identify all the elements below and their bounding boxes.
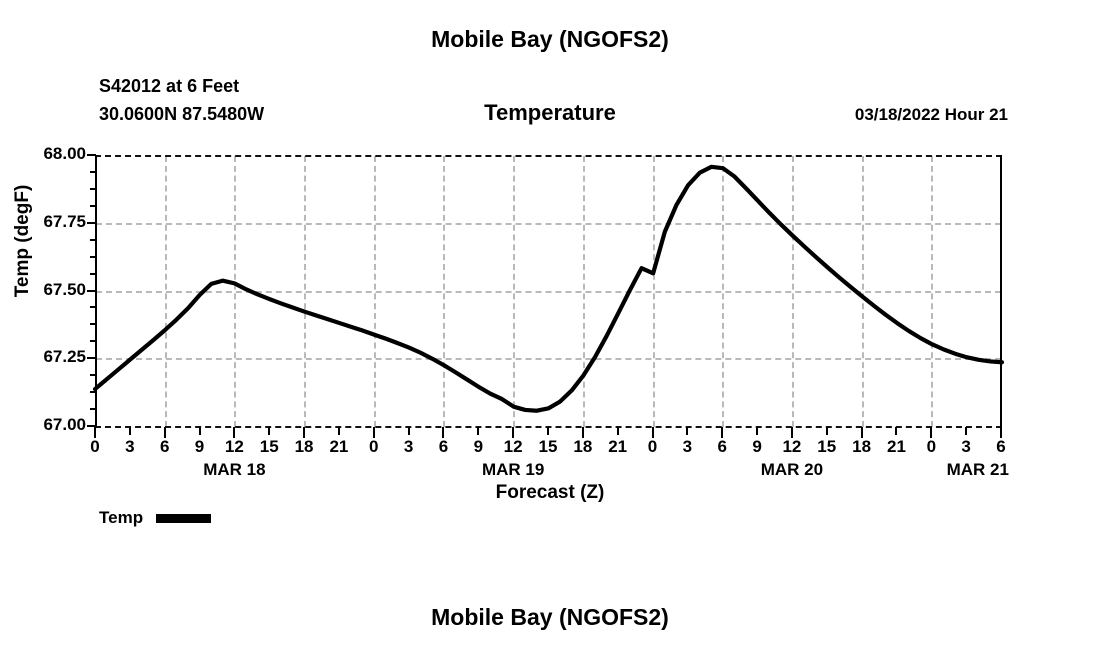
x-tick [756,427,758,435]
chart-legend: Temp [99,508,211,528]
temperature-series-plot [95,155,1002,428]
series-line-temp [95,167,1002,411]
x-tick-label: 6 [981,437,1021,457]
legend-label-temp: Temp [99,508,143,528]
x-tick [617,427,619,435]
station-id-label: S42012 at 6 Feet [99,76,239,97]
model-run-timestamp: 03/18/2022 Hour 21 [855,105,1008,125]
x-tick [408,427,410,435]
y-tick-label: 67.75 [43,212,86,232]
y-axis-title: Temp (degF) [12,161,34,321]
x-tick [477,427,479,435]
y-tick-label: 68.00 [43,144,86,164]
x-tick [965,427,967,435]
legend-swatch-temp [156,514,211,523]
x-axis-day-label: MAR 18 [164,460,304,480]
x-axis-day-label: MAR 20 [722,460,862,480]
x-tick [686,427,688,435]
x-axis-title: Forecast (Z) [0,482,1100,504]
y-tick-label: 67.50 [43,280,86,300]
x-axis-day-label: MAR 21 [908,460,1048,480]
x-tick [895,427,897,435]
x-tick [268,427,270,435]
y-tick-label: 67.25 [43,347,86,367]
x-tick [338,427,340,435]
x-tick [129,427,131,435]
y-tick-label: 67.00 [43,415,86,435]
x-tick [547,427,549,435]
x-tick [826,427,828,435]
page-title-bottom: Mobile Bay (NGOFS2) [0,604,1100,631]
x-axis-day-label: MAR 19 [443,460,583,480]
page-title-top: Mobile Bay (NGOFS2) [0,26,1100,53]
x-tick [199,427,201,435]
